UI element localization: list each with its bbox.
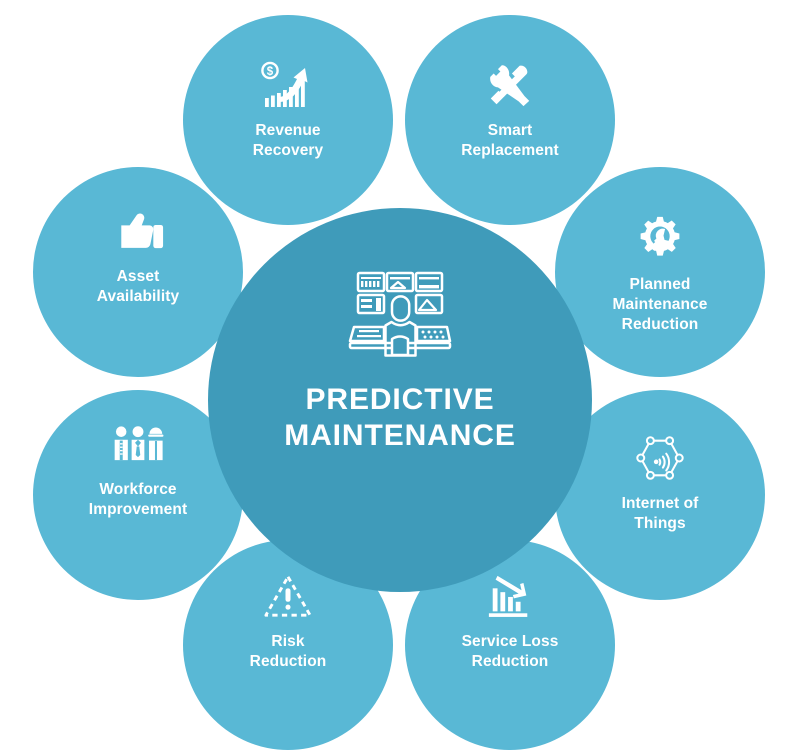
dollar-growth-chart-arrow-up-icon: $ bbox=[260, 57, 316, 113]
petal-label-line-1: Smart bbox=[488, 122, 532, 139]
petal-label: Revenue Recovery bbox=[203, 121, 373, 161]
petal-label: Asset Availability bbox=[53, 267, 223, 307]
petal-label: Workforce Improvement bbox=[53, 480, 223, 520]
petal-label-line-2: Reduction bbox=[472, 653, 549, 670]
diagram-canvas: $ Revenue Recovery bbox=[0, 0, 800, 754]
petal-revenue-recovery[interactable]: $ Revenue Recovery bbox=[183, 15, 393, 225]
warning-triangle-dashed-icon bbox=[260, 568, 316, 624]
core-title-line-1: PREDICTIVE bbox=[305, 383, 494, 416]
petal-label-line-2: Recovery bbox=[253, 142, 324, 159]
petal-label-line-2: Things bbox=[634, 515, 685, 532]
petal-label-line-3: Reduction bbox=[622, 316, 699, 333]
thumbs-up-icon bbox=[110, 203, 166, 259]
control-room-monitors-operator-icon bbox=[348, 270, 452, 358]
iot-hexagon-network-signal-icon bbox=[632, 430, 688, 486]
svg-text:$: $ bbox=[267, 66, 274, 78]
petal-label-line-1: Revenue bbox=[255, 122, 320, 139]
petal-asset-availability[interactable]: Asset Availability bbox=[33, 167, 243, 377]
petal-label-line-1: Internet of bbox=[622, 495, 699, 512]
three-workers-team-icon bbox=[110, 416, 166, 472]
petal-label-line-1: Service Loss bbox=[462, 633, 559, 650]
declining-bar-chart-arrow-down-icon bbox=[482, 568, 538, 624]
core-title-line-2: MAINTENANCE bbox=[235, 418, 565, 454]
petal-label: Internet of Things bbox=[575, 494, 745, 534]
wrench-hammer-crossed-tools-icon bbox=[482, 57, 538, 113]
gear-wrench-icon bbox=[632, 211, 688, 267]
petal-label-line-2: Maintenance bbox=[613, 296, 708, 313]
petal-smart-replacement[interactable]: Smart Replacement bbox=[405, 15, 615, 225]
petal-label-line-1: Planned bbox=[630, 276, 691, 293]
petal-label-line-2: Availability bbox=[97, 288, 179, 305]
petal-label: Smart Replacement bbox=[425, 121, 595, 161]
petal-label-line-1: Asset bbox=[117, 268, 160, 285]
petal-label-line-2: Reduction bbox=[250, 653, 327, 670]
petal-label-line-2: Improvement bbox=[89, 501, 187, 518]
petal-planned-maintenance-reduction[interactable]: Planned Maintenance Reduction bbox=[555, 167, 765, 377]
petal-label: Risk Reduction bbox=[203, 632, 373, 672]
petal-label-line-2: Replacement bbox=[461, 142, 559, 159]
core-title: PREDICTIVE MAINTENANCE bbox=[235, 382, 565, 454]
core-circle-predictive-maintenance[interactable]: PREDICTIVE MAINTENANCE bbox=[208, 208, 592, 592]
petal-label-line-1: Workforce bbox=[99, 481, 176, 498]
petal-label: Planned Maintenance Reduction bbox=[575, 275, 745, 334]
petal-label: Service Loss Reduction bbox=[425, 632, 595, 672]
petal-label-line-1: Risk bbox=[271, 633, 304, 650]
